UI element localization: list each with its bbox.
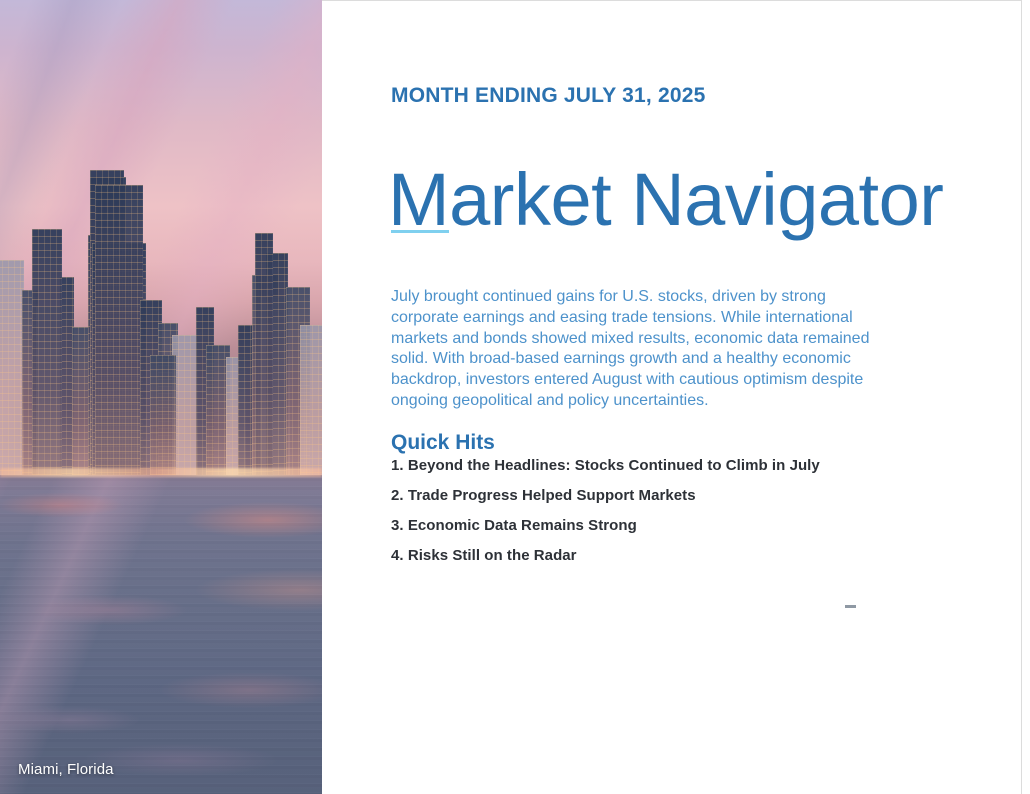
stray-dash-mark bbox=[845, 605, 856, 608]
list-item[interactable]: 2. Trade Progress Helped Support Markets bbox=[391, 487, 911, 504]
market-navigator-page: Miami, Florida MONTH ENDING JULY 31, 202… bbox=[0, 0, 1030, 794]
list-item[interactable]: 4. Risks Still on the Radar bbox=[391, 547, 911, 564]
intro-paragraph: July brought continued gains for U.S. st… bbox=[391, 287, 891, 412]
skyline-silhouette bbox=[0, 0, 322, 475]
quick-hits-heading: Quick Hits bbox=[391, 431, 495, 455]
water-surface bbox=[0, 477, 322, 794]
content-column: MONTH ENDING JULY 31, 2025 Market Naviga… bbox=[322, 0, 1030, 794]
page-title: Market Navigator bbox=[388, 160, 943, 240]
photo-caption: Miami, Florida bbox=[18, 761, 114, 778]
quick-hits-list: 1. Beyond the Headlines: Stocks Continue… bbox=[391, 457, 911, 577]
accent-rule bbox=[391, 230, 449, 233]
list-item[interactable]: 3. Economic Data Remains Strong bbox=[391, 517, 911, 534]
cover-photo-panel: Miami, Florida bbox=[0, 0, 322, 794]
shoreline-lights bbox=[0, 468, 322, 477]
list-item[interactable]: 1. Beyond the Headlines: Stocks Continue… bbox=[391, 457, 911, 474]
miami-skyline-photo: Miami, Florida bbox=[0, 0, 322, 794]
period-label: MONTH ENDING JULY 31, 2025 bbox=[391, 84, 705, 108]
